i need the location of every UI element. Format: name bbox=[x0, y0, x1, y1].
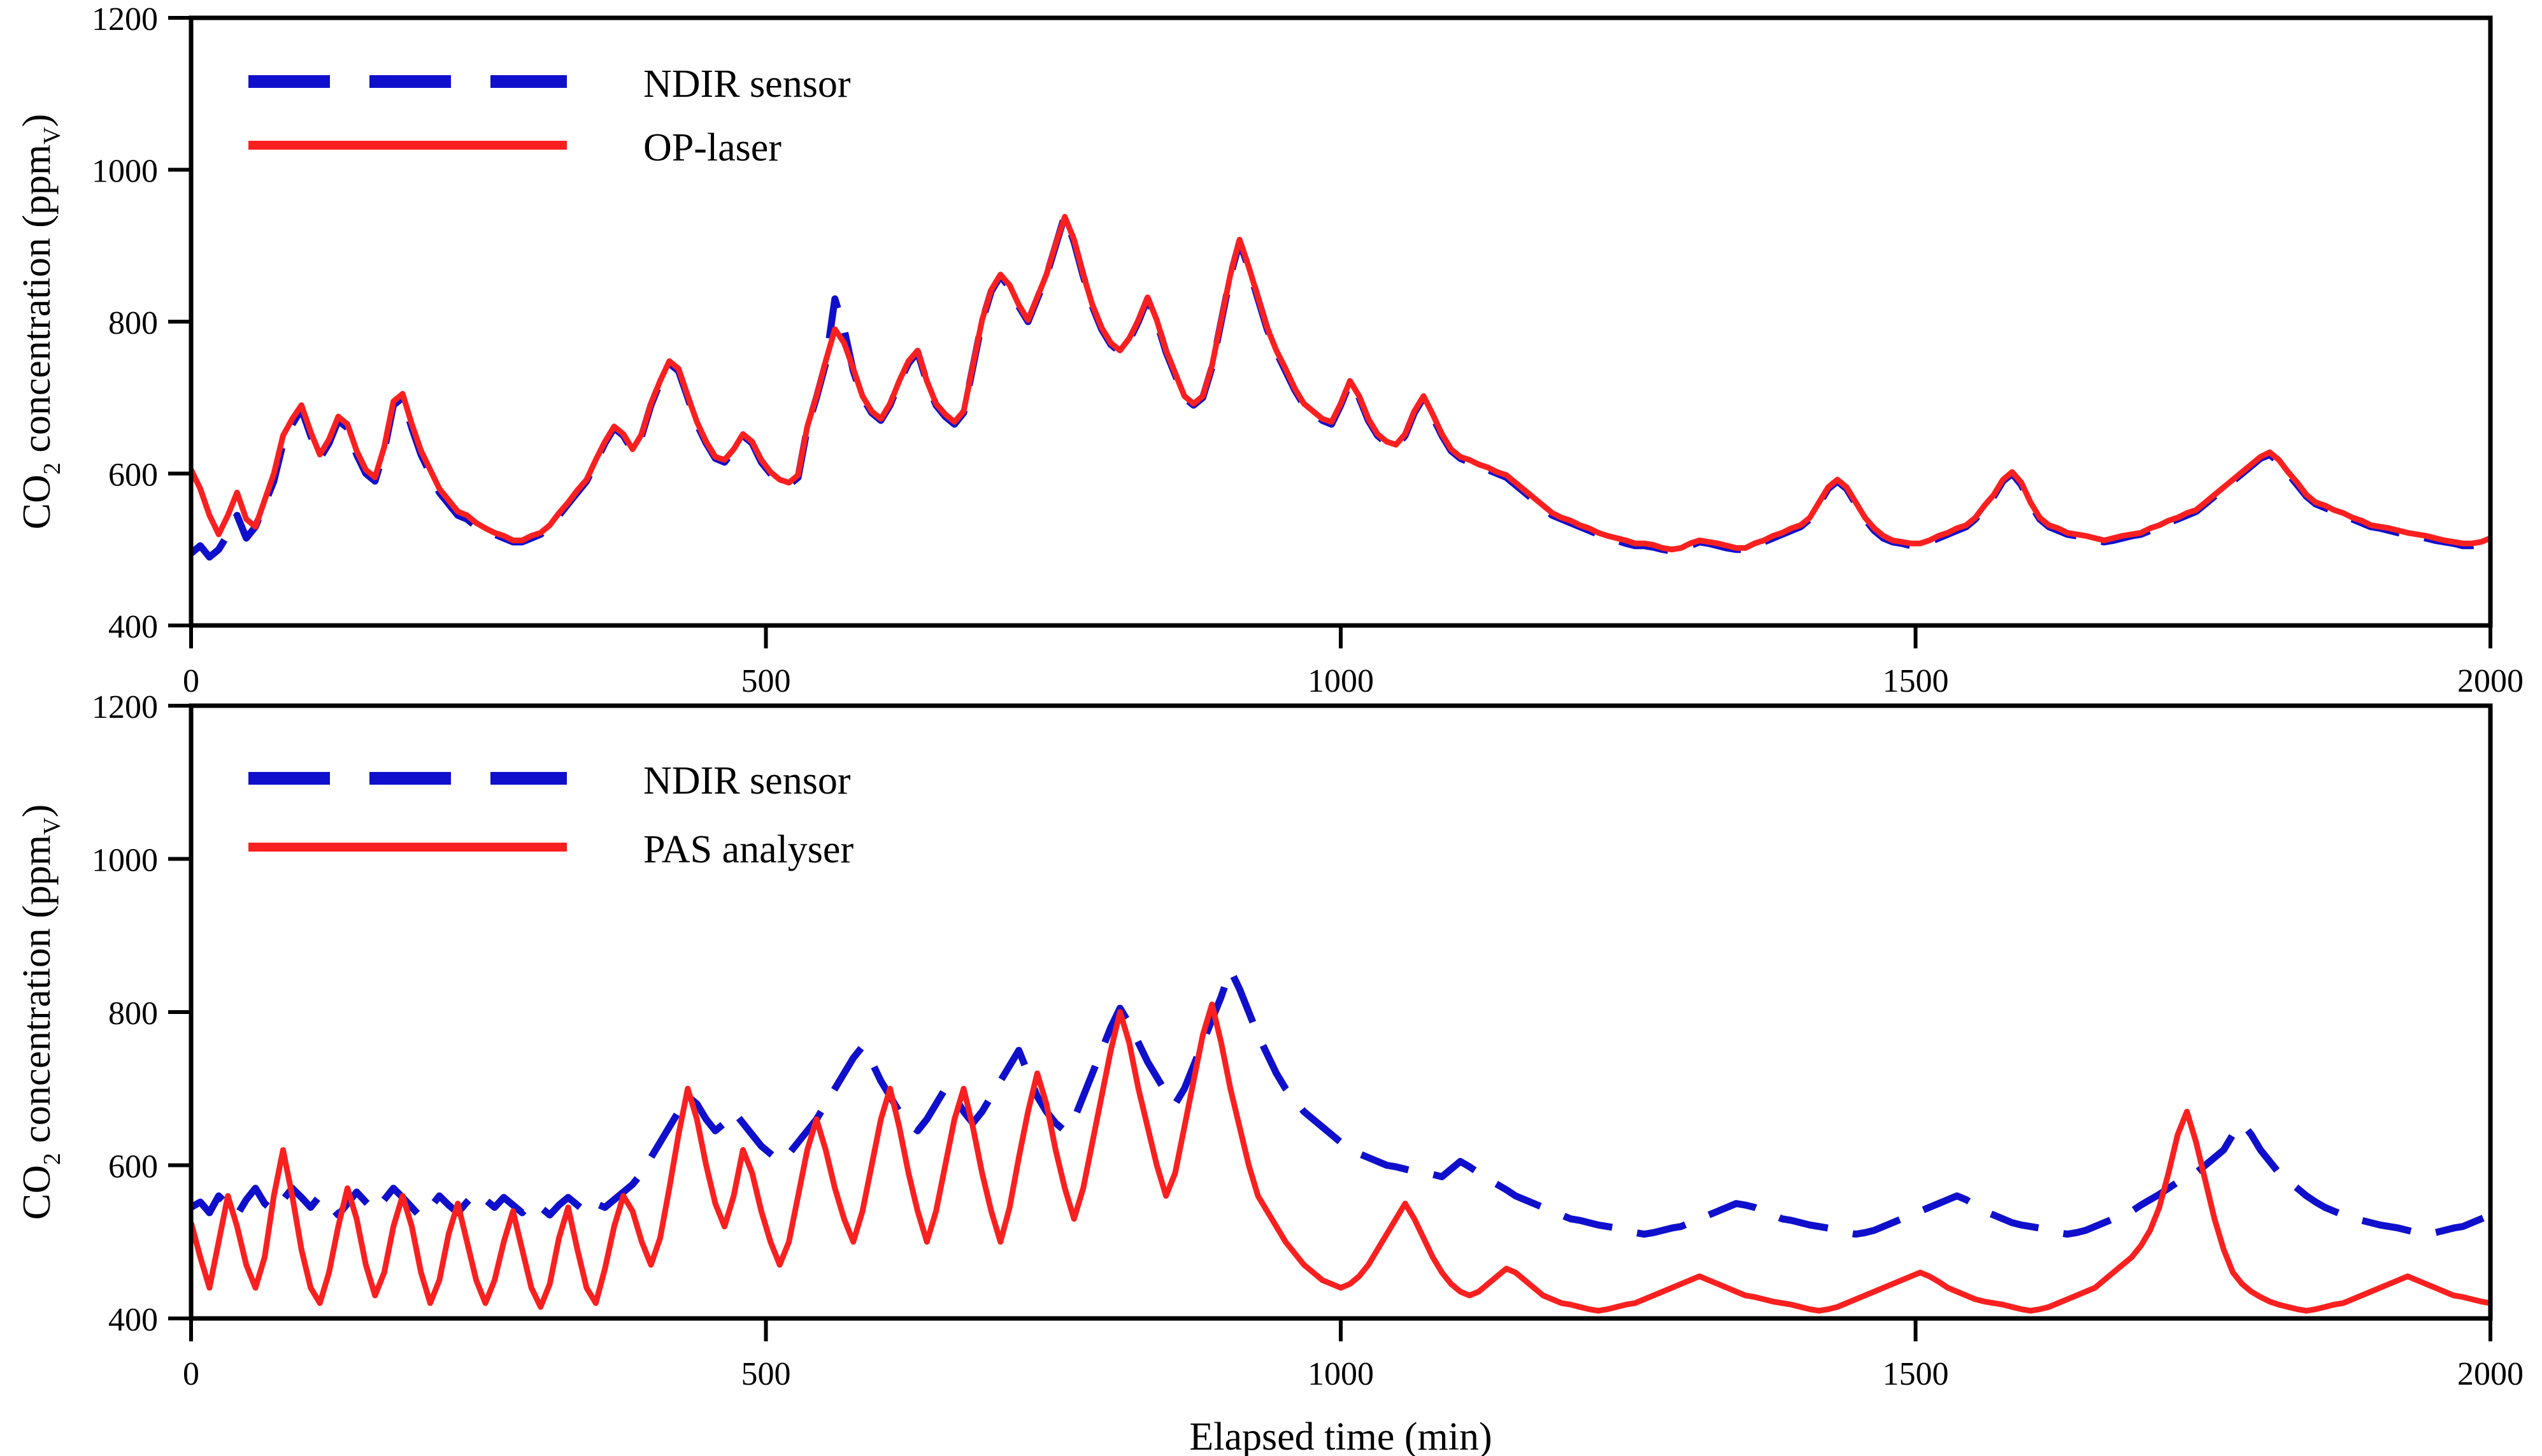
panel-top: 400600800100012000500100015002000NDIR se… bbox=[92, 1, 2524, 699]
y-tick-label-1000: 1000 bbox=[92, 153, 158, 190]
x-tick-label-0: 0 bbox=[183, 663, 199, 699]
panel-top-plot-area bbox=[191, 215, 2490, 557]
x-tick-label-500: 500 bbox=[741, 663, 791, 699]
y-tick-label-600: 600 bbox=[108, 1149, 158, 1185]
x-axis-title: Elapsed time (min) bbox=[1189, 1415, 1492, 1456]
x-tick-label-500: 500 bbox=[741, 1356, 791, 1392]
y-tick-label-1000: 1000 bbox=[92, 843, 158, 879]
series-line-pas-analyser bbox=[191, 1004, 2490, 1311]
legend-label-ndir-sensor: NDIR sensor bbox=[643, 62, 851, 106]
x-tick-label-2000: 2000 bbox=[2457, 663, 2524, 699]
x-tick-label-1500: 1500 bbox=[1883, 1356, 1949, 1392]
x-tick-label-1000: 1000 bbox=[1308, 663, 1374, 699]
legend-label-pas-analyser: PAS analyser bbox=[643, 828, 853, 871]
y-tick-label-1200: 1200 bbox=[92, 1, 158, 38]
series-line-ndir-sensor bbox=[191, 970, 2490, 1234]
x-tick-label-1500: 1500 bbox=[1883, 663, 1949, 699]
panel-bottom-legend: NDIR sensorPAS analyser bbox=[248, 759, 853, 871]
y-tick-label-600: 600 bbox=[108, 457, 158, 494]
panel-bottom-y-axis-title: CO2 concentration (ppmV) bbox=[15, 804, 66, 1220]
series-line-op-laser bbox=[191, 217, 2490, 549]
x-tick-label-1000: 1000 bbox=[1308, 1356, 1374, 1392]
legend-label-op-laser: OP-laser bbox=[643, 126, 782, 169]
panel-top-y-axis-title: CO2 concentration (ppmV) bbox=[15, 114, 66, 530]
y-tick-label-400: 400 bbox=[108, 609, 158, 645]
series-line-ndir-sensor bbox=[191, 215, 2490, 557]
x-tick-label-0: 0 bbox=[183, 1356, 199, 1392]
legend-label-ndir-sensor: NDIR sensor bbox=[643, 759, 851, 803]
y-tick-label-1200: 1200 bbox=[92, 689, 158, 725]
y-tick-label-400: 400 bbox=[108, 1302, 158, 1338]
panel-bottom-frame bbox=[191, 706, 2490, 1318]
panel-bottom: 400600800100012000500100015002000NDIR se… bbox=[92, 689, 2524, 1392]
panel-bottom-plot-area bbox=[191, 970, 2490, 1311]
y-tick-label-800: 800 bbox=[108, 996, 158, 1032]
figure-container: 400600800100012000500100015002000NDIR se… bbox=[0, 0, 2542, 1456]
chart-figure: 400600800100012000500100015002000NDIR se… bbox=[0, 0, 2542, 1456]
panel-top-legend: NDIR sensorOP-laser bbox=[248, 62, 851, 169]
x-tick-label-2000: 2000 bbox=[2457, 1356, 2524, 1392]
y-tick-label-800: 800 bbox=[108, 305, 158, 341]
